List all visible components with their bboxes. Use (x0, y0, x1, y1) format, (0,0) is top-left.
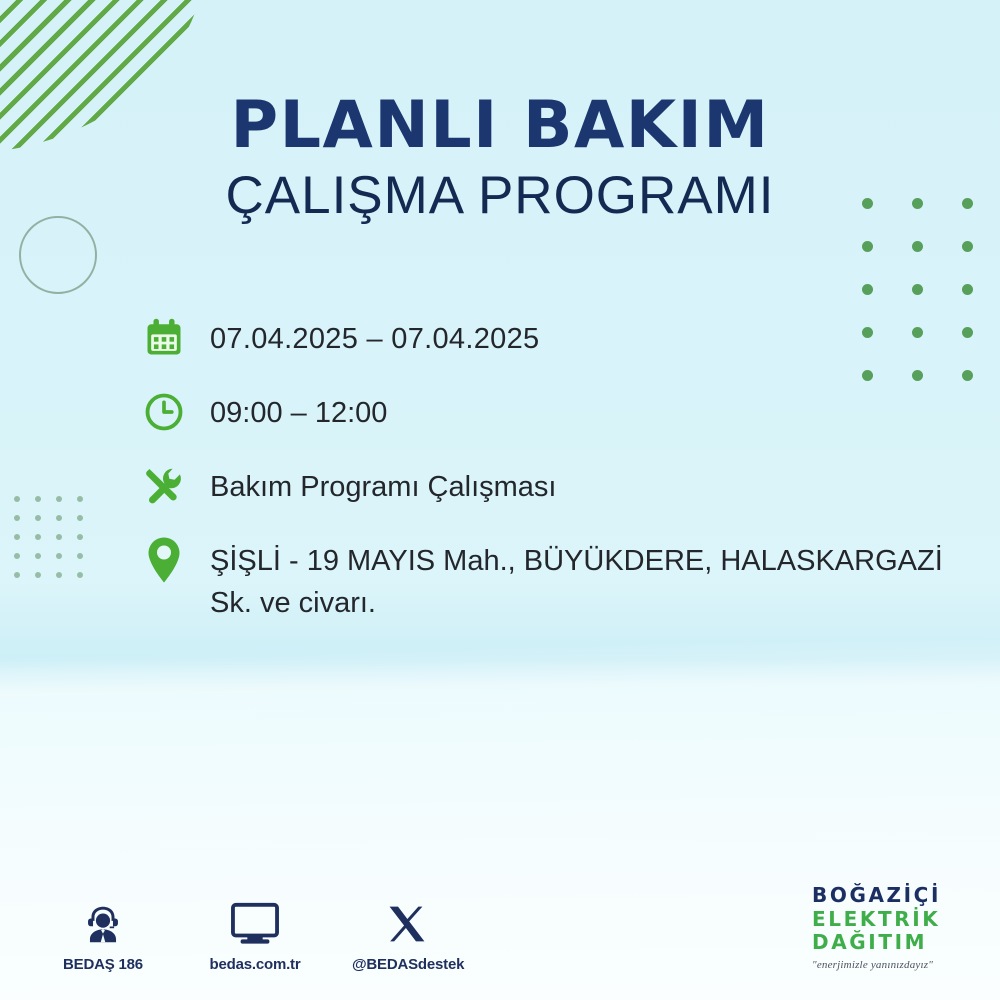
info-row-location-text: ŞİŞLİ - 19 MAYIS Mah., BÜYÜKDERE, HALASK… (210, 534, 988, 624)
footer-contacts: BEDAŞ 186 bedas.com.tr @BEDASdestek (48, 898, 462, 973)
contact-x-twitter[interactable]: @BEDASdestek (352, 898, 462, 973)
calendar-icon (138, 312, 190, 364)
info-list: 07.04.2025 – 07.04.2025 09:00 – 12:00 (138, 312, 988, 646)
background-wave-decoration (0, 635, 1000, 776)
brand-line-3: DAĞITIM (812, 931, 982, 955)
clock-icon (138, 386, 190, 438)
brand-line-2: ELEKTRİK (812, 908, 982, 932)
contact-phone[interactable]: BEDAŞ 186 (48, 898, 158, 973)
brand-line-1: BOĞAZİÇİ (812, 884, 982, 908)
info-row-time-text: 09:00 – 12:00 (210, 386, 387, 434)
page-subtitle: ÇALIŞMA PROGRAMI (0, 166, 1000, 227)
support-agent-icon (48, 898, 158, 950)
contact-website-label: bedas.com.tr (200, 956, 310, 973)
location-pin-icon (138, 534, 190, 586)
x-twitter-icon (352, 898, 462, 950)
info-row-location: ŞİŞLİ - 19 MAYIS Mah., BÜYÜKDERE, HALASK… (138, 534, 988, 624)
brand-tagline: "enerjimizle yanınızdayız" (812, 959, 982, 971)
circle-outline-decoration (19, 216, 97, 294)
page-title: PLANLI BAKIM (0, 92, 1000, 160)
poster-header: PLANLI BAKIM ÇALIŞMA PROGRAMI (0, 92, 1000, 227)
monitor-icon (200, 898, 310, 950)
contact-x-label: @BEDASdestek (352, 956, 462, 973)
info-row-time: 09:00 – 12:00 (138, 386, 988, 438)
poster-canvas: PLANLI BAKIM ÇALIŞMA PROGRAMI 07 (0, 0, 1000, 1000)
info-row-worktype-text: Bakım Programı Çalışması (210, 460, 556, 508)
contact-website[interactable]: bedas.com.tr (200, 898, 310, 973)
info-row-date-text: 07.04.2025 – 07.04.2025 (210, 312, 539, 360)
info-row-worktype: Bakım Programı Çalışması (138, 460, 988, 512)
brand-logo: BOĞAZİÇİ ELEKTRİK DAĞITIM "enerjimizle y… (812, 884, 982, 971)
info-row-date: 07.04.2025 – 07.04.2025 (138, 312, 988, 364)
dot-grid-left-decoration (14, 496, 98, 591)
tools-icon (138, 460, 190, 512)
contact-phone-label: BEDAŞ 186 (48, 956, 158, 973)
